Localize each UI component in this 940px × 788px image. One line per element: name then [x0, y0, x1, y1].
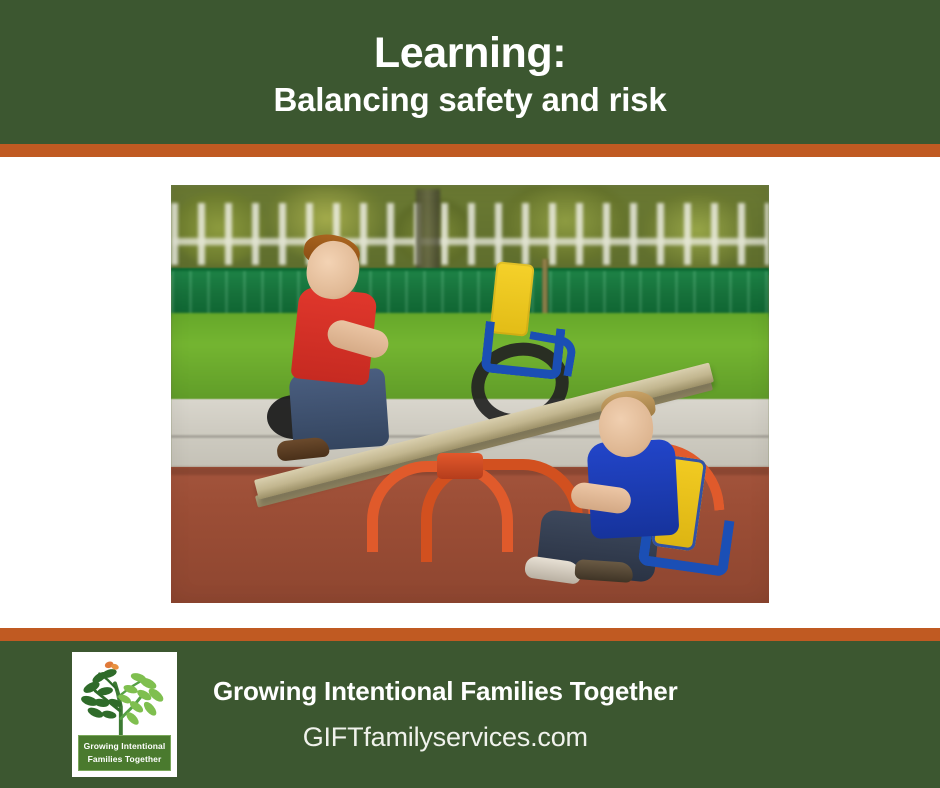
organization-name: Growing Intentional Families Together — [213, 676, 678, 707]
divider-bottom — [0, 628, 940, 641]
logo-caption-line2: Families Together — [79, 753, 170, 765]
playground-photo — [171, 185, 769, 603]
photo-scene — [171, 185, 769, 603]
content-area — [0, 157, 940, 628]
logo-caption-line1: Growing Intentional — [79, 740, 170, 752]
photo-vignette — [171, 185, 769, 603]
logo-caption: Growing Intentional Families Together — [78, 735, 171, 771]
footer-text-block: Growing Intentional Families Together GI… — [213, 676, 678, 752]
header-banner: Learning: Balancing safety and risk — [0, 0, 940, 144]
page-title: Learning: — [374, 30, 566, 76]
gift-family-services-logo: Growing Intentional Families Together — [72, 652, 177, 777]
tree-icon — [72, 656, 175, 740]
divider-top — [0, 144, 940, 157]
page-subtitle: Balancing safety and risk — [274, 82, 667, 118]
slide-canvas: Learning: Balancing safety and risk — [0, 0, 940, 788]
butterfly-icon — [104, 660, 120, 670]
website-url[interactable]: GIFTfamilyservices.com — [303, 722, 588, 753]
footer-banner: Growing Intentional Families Together Gr… — [0, 641, 940, 788]
